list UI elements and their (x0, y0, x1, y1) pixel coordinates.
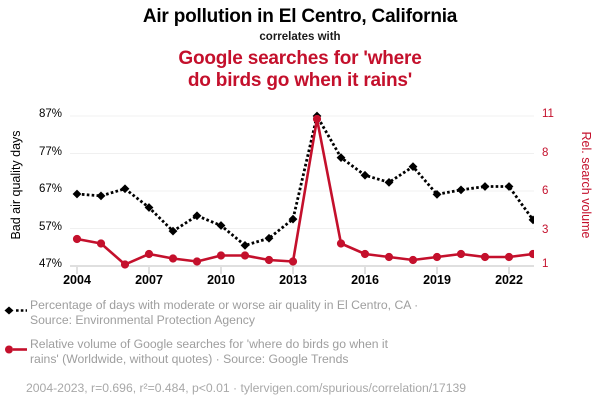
legend-item-air-quality: Percentage of days with moderate or wors… (4, 298, 596, 328)
y-axis-left-tick-label: 77% (18, 146, 62, 158)
y-axis-right-tick-label: 1 (542, 258, 572, 270)
legend-item-search-volume: Relative volume of Google searches for '… (4, 337, 596, 367)
y-axis-left-tick-label: 47% (18, 258, 62, 270)
chart-area: Bad air quality days Rel. search volume … (0, 105, 600, 295)
red-solid-circle-marker-icon (4, 341, 28, 350)
y-axis-right-tick-label: 8 (542, 147, 572, 159)
title-block: Air pollution in El Centro, California c… (0, 0, 600, 92)
plot-region (70, 105, 534, 295)
legend-search-volume-line1: Relative volume of Google searches for '… (30, 337, 388, 351)
page-title: Air pollution in El Centro, California (0, 6, 600, 28)
y-axis-right-ticks: 118631 (542, 105, 572, 295)
x-axis-tick-label: 2007 (135, 273, 163, 287)
y-axis-left-tick-label: 57% (18, 221, 62, 233)
y-axis-right-tick-label: 6 (542, 185, 572, 197)
x-axis-tick-label: 2010 (207, 273, 235, 287)
y-axis-left-ticks: 87%77%67%57%47% (18, 105, 62, 295)
x-axis-tick-label: 2019 (423, 273, 451, 287)
title-connector: correlates with (0, 30, 600, 45)
y-axis-left-tick-label: 87% (18, 108, 62, 120)
legend-search-volume-line2: rains' (Worldwide, without quotes) · Sou… (30, 352, 348, 366)
x-axis-tick-label: 2022 (495, 273, 523, 287)
legend-item-air-quality-text: Percentage of days with moderate or wors… (30, 298, 596, 328)
page-subtitle-line1: Google searches for 'where (178, 48, 421, 69)
x-axis-tick-label: 2016 (351, 273, 379, 287)
legend-item-search-volume-text: Relative volume of Google searches for '… (30, 337, 596, 367)
legend-air-quality-line1: Percentage of days with moderate or wors… (30, 298, 418, 312)
legend: Percentage of days with moderate or wors… (4, 298, 596, 376)
x-axis-tick-label: 2004 (63, 273, 91, 287)
y-axis-right-tick-label: 3 (542, 224, 572, 236)
x-axis-tick-label: 2013 (279, 273, 307, 287)
chart-page: Air pollution in El Centro, California c… (0, 0, 600, 414)
y-axis-right-title: Rel. search volume (579, 110, 593, 260)
y-axis-left-tick-label: 67% (18, 183, 62, 195)
y-axis-right-tick-label: 11 (542, 108, 572, 120)
page-subtitle-line2: do birds go when it rains' (188, 70, 412, 91)
footer-credit: 2004-2023, r=0.696, r²=0.484, p<0.01 · t… (26, 381, 466, 395)
black-dotted-diamond-marker-icon (4, 302, 28, 311)
page-subtitle: Google searches for 'where do birds go w… (0, 48, 600, 92)
series-canvas (70, 105, 534, 295)
legend-air-quality-line2: Source: Environmental Protection Agency (30, 313, 255, 327)
